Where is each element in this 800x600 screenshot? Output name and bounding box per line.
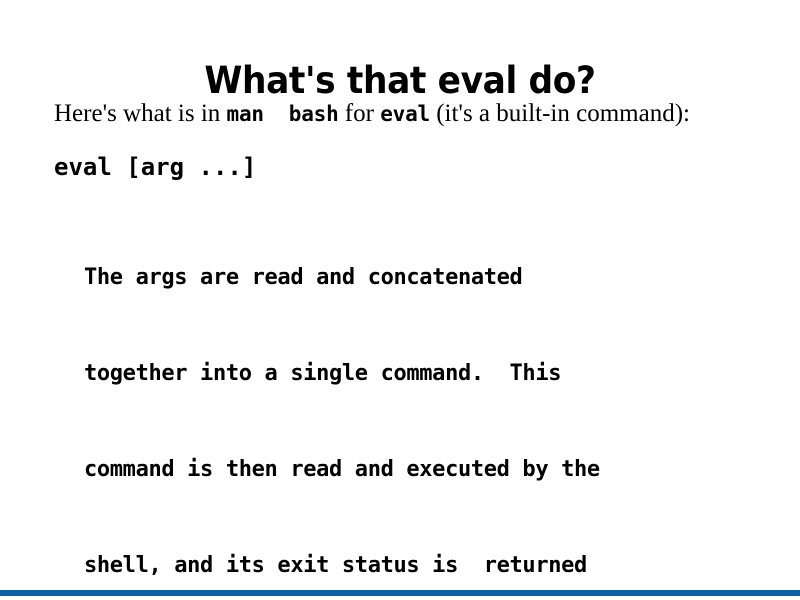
intro-text-part-2: for xyxy=(339,100,381,127)
manpage-line: command is then read and executed by the xyxy=(84,454,746,486)
intro-text-part-1: Here's what is in xyxy=(54,100,227,127)
manpage-line: shell, and its exit status is returned xyxy=(84,550,746,582)
slide-body: Here's what is in man bash for eval (it'… xyxy=(54,98,746,600)
inline-code-man-bash: man bash xyxy=(227,102,339,126)
manpage-line: together into a single command. This xyxy=(84,358,746,390)
manpage-line: The args are read and concatenated xyxy=(84,262,746,294)
slide-canvas: What's that eval do? Here's what is in m… xyxy=(0,0,800,600)
page-title: What's that eval do? xyxy=(28,59,772,103)
inline-code-eval: eval xyxy=(380,102,430,126)
manpage-description-block: The args are read and concatenated toget… xyxy=(84,198,746,600)
intro-paragraph: Here's what is in man bash for eval (it'… xyxy=(54,98,746,130)
eval-synopsis-line: eval [arg ...] xyxy=(54,152,746,182)
footer-accent-bar xyxy=(0,590,800,596)
intro-text-part-3: (it's a built-in command): xyxy=(430,100,690,127)
